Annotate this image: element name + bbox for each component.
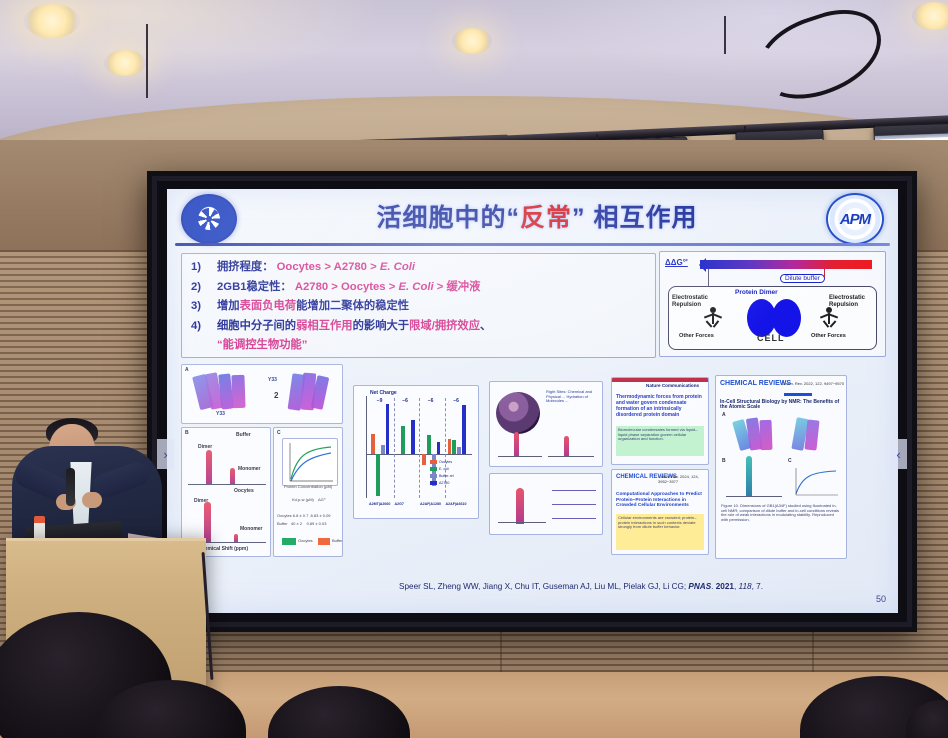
chart-bar bbox=[448, 439, 452, 454]
dilute-buffer-label: Dilute buffer bbox=[780, 274, 825, 283]
legend-label: Oocytes bbox=[439, 460, 452, 464]
bullet-number: 2) bbox=[186, 279, 217, 296]
nav-next-button[interactable]: ‹ bbox=[890, 439, 907, 469]
energy-gradient-bar bbox=[700, 260, 872, 269]
chem-rev-journal: CHEMICAL REVIEWS bbox=[720, 380, 791, 387]
slide-title-highlight: 反常 bbox=[520, 204, 572, 232]
citation-journal: PNAS bbox=[688, 582, 711, 591]
panel-letter-A: A bbox=[185, 367, 189, 373]
cell-label: CELL bbox=[757, 333, 785, 343]
bullet-segment: 拥挤程度： bbox=[217, 261, 274, 273]
protein-ribbon-icon bbox=[759, 420, 772, 450]
monomer-label: Monomer bbox=[238, 466, 261, 472]
panel-letter-A: A bbox=[722, 412, 726, 418]
panel-net-charge-barchart: Net Charge −9−6−6−6 A2MT|A2660A2G7A2AF|A… bbox=[353, 385, 479, 519]
chem-rev-header: Chem. Rev. 2024, 124, 3952−3977 bbox=[658, 475, 708, 484]
nmr-trace bbox=[552, 504, 596, 505]
bullet-segment: 的影响大于 bbox=[353, 320, 410, 332]
cell-schematic: ΔΔG°' Dilute buffer Protein Dimer bbox=[659, 251, 886, 357]
panel-chem-rev-right: CHEMICAL REVIEWS Chem. Rev. 2022, 122, 9… bbox=[715, 375, 847, 559]
panel-crowding-nmr: Right Sites: Chemical and Physical ... H… bbox=[489, 381, 603, 467]
delta-g-label: ΔΔG°' bbox=[665, 258, 688, 267]
nmr-peak bbox=[746, 456, 752, 496]
chem-rev-header: Chem. Rev. 2022, 122, 9497−9570 bbox=[782, 382, 844, 387]
bullet-segment: > 缓冲液 bbox=[434, 281, 481, 293]
downlight-icon bbox=[452, 28, 492, 54]
nmr-peak bbox=[230, 468, 235, 484]
electrostatic-repulsion-right: Electrostatic Repulsion bbox=[829, 295, 869, 309]
bullet-segment: 增加 bbox=[217, 300, 240, 312]
nmr-peak bbox=[234, 534, 238, 542]
table-row-oocytes: Oocytes 6.8 ± 0.7 8.83 ± 0.09 bbox=[277, 514, 331, 519]
bullet-text: 拥挤程度： Oocytes > A2780 > E. Coli bbox=[217, 259, 415, 276]
legend-swatch-oocytes bbox=[282, 538, 296, 545]
downlight-icon bbox=[912, 2, 948, 30]
speaker-hand-right bbox=[82, 492, 102, 508]
residue-label-y33: Y33 bbox=[216, 411, 225, 417]
abstract-text: Biomolecular condensates formed via liqu… bbox=[618, 428, 702, 442]
bullet-segment: 细胞中分子间的 bbox=[217, 320, 296, 332]
apm-logo-icon: APM bbox=[826, 193, 884, 245]
panel-C-binding-curve: C Protein Concentration (µM) Kd,p-w (µM)… bbox=[273, 427, 343, 557]
panel-A-protein-structures: A Y33 Y33 2 bbox=[181, 364, 343, 424]
projection-screen-frame: 活细胞中的“反常” 相互作用 APM 1)拥挤程度： Oocytes > A27… bbox=[147, 171, 917, 632]
nav-previous-button[interactable]: › bbox=[157, 439, 174, 469]
ceiling-wire bbox=[146, 24, 148, 98]
bullet-list: 1)拥挤程度： Oocytes > A2780 > E. Coli2)2GB1稳… bbox=[181, 253, 656, 358]
nmr-peak bbox=[514, 432, 519, 456]
dimer-label: Dimer bbox=[198, 444, 212, 450]
quote-open: “ bbox=[507, 204, 521, 232]
downlight-icon bbox=[24, 4, 80, 38]
chart-bar bbox=[422, 454, 426, 465]
chart-category-label: A2G7 bbox=[395, 502, 404, 506]
cell-boundary: Protein Dimer Electrostatic Repulsion El… bbox=[668, 286, 877, 350]
panel-lower-nmr-series bbox=[489, 473, 603, 535]
crowded-cell-image bbox=[496, 392, 540, 434]
legend-label-buffer: Buffer bbox=[332, 539, 343, 544]
chart-bar bbox=[427, 435, 431, 454]
bullet-item: 1)拥挤程度： Oocytes > A2780 > E. Coli bbox=[186, 259, 651, 276]
handheld-microphone bbox=[66, 468, 75, 506]
nmr-peak bbox=[516, 488, 524, 524]
other-forces-right: Other Forces bbox=[811, 333, 846, 339]
chart-category-label: A2AF|A1280 bbox=[420, 502, 441, 506]
chart-bar bbox=[462, 405, 466, 454]
chart-bar bbox=[457, 447, 461, 454]
bullet-text: 增加表面负电荷能增加二聚体的稳定性 bbox=[217, 298, 409, 315]
nmr-peak bbox=[204, 502, 211, 542]
protein-ribbon-icon bbox=[804, 419, 819, 450]
chart-legend-item: E. coli bbox=[430, 467, 449, 471]
chart-group-separator bbox=[394, 398, 395, 498]
axis-label-protein-conc: Protein Concentration (µM) bbox=[284, 485, 332, 490]
presentation-slide: 活细胞中的“反常” 相互作用 APM 1)拥挤程度： Oocytes > A27… bbox=[167, 189, 898, 613]
citation-year: 2021 bbox=[716, 582, 734, 591]
nmr-axis bbox=[498, 522, 546, 523]
bullet-number: 3) bbox=[186, 298, 217, 315]
conference-photo: 活细胞中的“反常” 相互作用 APM 1)拥挤程度： Oocytes > A27… bbox=[0, 0, 948, 738]
chart-bar bbox=[437, 442, 441, 454]
bullet-segment: E. Coli bbox=[398, 281, 433, 293]
nmr-axis bbox=[498, 456, 542, 457]
chart-bar bbox=[452, 440, 456, 454]
chart-title: Net Charge bbox=[370, 390, 397, 396]
panel-chem-rev-lower: CHEMICAL REVIEWS Chem. Rev. 2024, 124, 3… bbox=[611, 469, 709, 555]
panel-letter-C: C bbox=[788, 458, 792, 464]
citation-volume: 118 bbox=[739, 582, 752, 591]
chart-bar bbox=[386, 404, 390, 454]
slide-title-lead: 活细胞中的 bbox=[377, 204, 507, 232]
nature-comm-article-title: Thermodynamic forces from protein and wa… bbox=[616, 394, 704, 418]
bullet-segment: 能增加二聚体的稳定性 bbox=[296, 300, 409, 312]
stoichiometry-label: 2 bbox=[274, 391, 278, 400]
nature-comm-topbar bbox=[612, 378, 708, 382]
slide-header: 活细胞中的“反常” 相互作用 APM bbox=[167, 189, 898, 245]
monomer-label: Monomer bbox=[240, 526, 263, 532]
slide-citation: Speer SL, Zheng WW, Jiang X, Chu IT, Gus… bbox=[399, 582, 869, 591]
legend-label-oocytes: Oocytes bbox=[298, 539, 313, 544]
stick-figure-right-icon bbox=[819, 307, 839, 333]
legend-label: E. coli bbox=[439, 467, 449, 471]
tick-left bbox=[708, 269, 709, 287]
curve-plot bbox=[792, 466, 840, 498]
inset-plot bbox=[282, 438, 338, 486]
quote-close: ” bbox=[572, 204, 586, 232]
chem-rev-article-title: In-Cell Structural Biology by NMR: The B… bbox=[720, 400, 840, 409]
net-charge-value: −6 bbox=[402, 398, 408, 404]
university-emblem-icon bbox=[181, 194, 237, 244]
chem-rev-article-title: Computational Approaches to Predict Prot… bbox=[616, 492, 704, 509]
chart-y-axis bbox=[366, 396, 367, 498]
chart-category-label: A2MT|A2660 bbox=[369, 502, 390, 506]
legend-swatch bbox=[430, 481, 437, 485]
titration-curve-svg bbox=[792, 466, 840, 498]
nmr-peak bbox=[206, 450, 212, 484]
stick-figure-left-icon bbox=[703, 307, 723, 333]
bullet-segment: 表面负电荷 bbox=[240, 300, 297, 312]
net-charge-value: −6 bbox=[428, 398, 434, 404]
buffer-label: Buffer bbox=[236, 432, 251, 438]
slide-page-number: 50 bbox=[876, 594, 886, 604]
abstract-text: Cellular environments are crowded; prote… bbox=[618, 516, 702, 530]
net-charge-value: −6 bbox=[453, 398, 459, 404]
bullet-segment: A2780 > Oocytes > bbox=[292, 281, 399, 293]
chart-legend-item: Buffer-rel bbox=[430, 474, 454, 478]
chart-bar bbox=[411, 420, 415, 454]
slide-title-tail: 相互作用 bbox=[593, 204, 697, 232]
nmr-peak bbox=[564, 436, 569, 456]
legend-swatch-buffer bbox=[318, 538, 330, 545]
chart-legend-item: Oocytes bbox=[430, 460, 452, 464]
bullet-segment: 、 bbox=[480, 320, 491, 332]
chart-legend-item: A2780 bbox=[430, 481, 449, 485]
projection-screen: 活细胞中的“反常” 相互作用 APM 1)拥挤程度： Oocytes > A27… bbox=[157, 181, 907, 622]
table-header-dg: ΔG°' bbox=[318, 498, 326, 503]
protein-dimer-icon bbox=[747, 299, 803, 337]
bullet-number: 4) bbox=[186, 318, 217, 335]
nature-comm-journal: Nature Communications bbox=[646, 384, 699, 389]
residue-label-y33: Y33 bbox=[268, 377, 277, 383]
chart-bar bbox=[401, 426, 405, 454]
figure-caption: Figure 10. Dimensions of GB1(A34F) studi… bbox=[721, 504, 841, 522]
bullet-segment: 限域/拥挤效应 bbox=[409, 320, 480, 332]
bullet-text: 2GB1稳定性： A2780 > Oocytes > E. Coli > 缓冲液 bbox=[217, 279, 480, 296]
legend-label: Buffer-rel bbox=[439, 474, 454, 478]
bullet-item: 3)增加表面负电荷能增加二聚体的稳定性 bbox=[186, 298, 651, 315]
net-charge-value: −9 bbox=[377, 398, 383, 404]
bullet-segment: E. Coli bbox=[380, 261, 415, 273]
equations-block: Right Sites: Chemical and Physical ... H… bbox=[546, 390, 598, 404]
panel-letter-B: B bbox=[185, 430, 189, 436]
panel-nature-communications: Nature Communications Thermodynamic forc… bbox=[611, 377, 709, 465]
citation-authors: Speer SL, Zheng WW, Jiang X, Chu IT, Gus… bbox=[399, 582, 688, 591]
chart-bar bbox=[371, 434, 375, 454]
binding-curve-svg bbox=[283, 439, 337, 485]
nmr-trace bbox=[552, 518, 596, 519]
nmr-baseline-top bbox=[188, 484, 266, 485]
nmr-axis bbox=[548, 456, 594, 457]
legend-label: A2780 bbox=[439, 481, 449, 485]
table-row-buffer: Buffer 40 ± 2 9.89 ± 0.03 bbox=[277, 522, 326, 527]
bullet-item: 2)2GB1稳定性： A2780 > Oocytes > E. Coli > 缓… bbox=[186, 279, 651, 296]
ceiling-wire bbox=[724, 16, 726, 54]
bullet-text: 细胞中分子间的弱相互作用的影响大于限域/拥挤效应、 bbox=[217, 318, 491, 335]
downlight-icon bbox=[104, 50, 146, 76]
nmr-trace bbox=[552, 490, 596, 491]
bullet-segment: Oocytes > A2780 > bbox=[274, 261, 380, 273]
chem-rev-blue-rule bbox=[784, 393, 812, 396]
slide-title: 活细胞中的“反常” 相互作用 bbox=[287, 197, 787, 239]
citation-page: 7. bbox=[756, 582, 763, 591]
bullet-number: 1) bbox=[186, 259, 217, 276]
legend-swatch bbox=[430, 467, 437, 471]
bullet-segment: 弱相互作用 bbox=[296, 320, 353, 332]
electrostatic-repulsion-left: Electrostatic Repulsion bbox=[672, 295, 708, 309]
table-header-kd: Kd,p-w (µM) bbox=[292, 498, 314, 503]
header-divider bbox=[175, 243, 890, 246]
tick-right bbox=[824, 269, 825, 277]
panel-letter-C: C bbox=[277, 430, 281, 436]
bullet-subline: “能调控生物功能” bbox=[217, 338, 651, 353]
nmr-axis bbox=[726, 496, 782, 497]
legend-swatch bbox=[430, 460, 437, 464]
chart-category-label: A2AF|A6610 bbox=[446, 502, 467, 506]
chart-bar bbox=[376, 454, 380, 496]
oocytes-label: Oocytes bbox=[234, 488, 254, 494]
other-forces-left: Other Forces bbox=[679, 333, 714, 339]
chart-group-separator bbox=[419, 398, 420, 498]
protein-dimer-label: Protein Dimer bbox=[735, 289, 778, 296]
legend-swatch bbox=[430, 474, 437, 478]
bullet-item: 4)细胞中分子间的弱相互作用的影响大于限域/拥挤效应、 bbox=[186, 318, 651, 335]
protein-ribbon-icon bbox=[231, 375, 245, 408]
bullet-segment: 2GB1稳定性： bbox=[217, 281, 292, 293]
chart-bar bbox=[381, 445, 385, 454]
panel-letter-B: B bbox=[722, 458, 726, 464]
